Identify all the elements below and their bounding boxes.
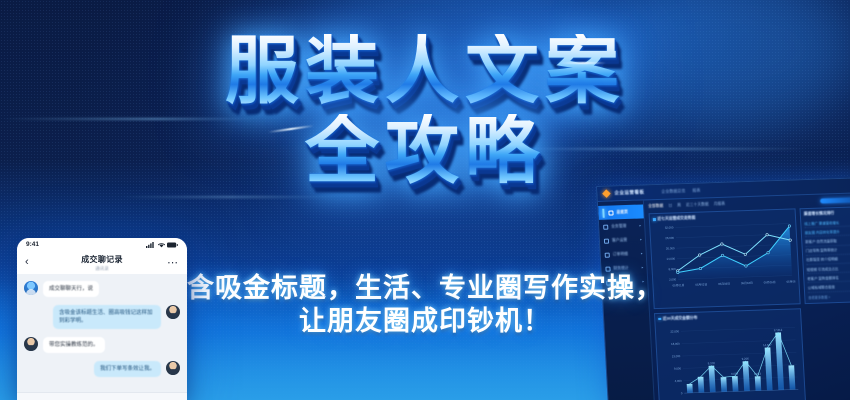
chat-message: 成交聊聊天行，说: [24, 281, 180, 297]
sidebar-item-label: 订单明细: [613, 251, 628, 256]
svg-text:18,000: 18,000: [671, 341, 680, 345]
line-chart-title: 近七天运营成交走势图: [657, 216, 695, 222]
chat-bubble: 我们下单写条效让我。: [94, 361, 161, 377]
chat-bubble: 成交聊聊天行，说: [43, 281, 99, 297]
chat-subtitle: 通讯录: [17, 266, 187, 272]
phone-mockup: 9:41 ‹ 成交聊记录 通讯录 ⋯ 成交聊聊天行，说 含吸金该标题生活、圈高吸: [17, 238, 187, 400]
sidebar-item-label: 总览页: [616, 209, 628, 214]
briefcase-icon: [603, 224, 608, 229]
wifi-icon: [158, 242, 165, 248]
top-nav-item-1[interactable]: 报表: [692, 188, 700, 194]
avatar: [24, 337, 38, 351]
svg-text:13,000: 13,000: [672, 354, 681, 358]
logo-diamond-icon: [602, 189, 610, 197]
ranking-panel-header: 渠道增长情况排行: [804, 211, 850, 218]
phone-nav-bar: ‹ 成交聊记录 通讯录 ⋯: [17, 251, 187, 274]
tab-week[interactable]: 周: [677, 203, 681, 208]
chat-message: 含吸金该标题生活、圈高吸钱记这样加到彩学明。: [24, 305, 180, 329]
status-icons: [146, 242, 178, 248]
light-streak-mid: [120, 196, 340, 198]
bullet-icon: [653, 218, 656, 221]
chevron-right-icon: ▸: [641, 251, 643, 255]
user-icon: [604, 238, 609, 243]
tab-month[interactable]: 月报表: [714, 202, 726, 207]
svg-text:14,517: 14,517: [763, 342, 772, 346]
svg-text:4,000: 4,000: [675, 378, 683, 382]
avatar: [166, 305, 180, 319]
avatar: [24, 281, 38, 295]
svg-text:8,000: 8,000: [668, 267, 676, 271]
sidebar-item-overview[interactable]: 总览页: [598, 204, 644, 219]
battery-icon: [167, 242, 178, 248]
sidebar-item-label: 财务统计: [613, 265, 628, 270]
chevron-right-icon: ▸: [642, 265, 644, 269]
grid-icon: [608, 210, 613, 215]
sidebar-item-label: 客户运营: [612, 237, 627, 242]
tab-all-data[interactable]: 全部数据: [648, 204, 663, 209]
tab-day[interactable]: 日: [668, 203, 672, 208]
chat-bubble: 带您实操教练范的。: [43, 337, 105, 353]
svg-text:9,000: 9,000: [674, 366, 682, 370]
phone-title-block: 成交聊记录 通讯录: [17, 254, 187, 272]
chat-message: 我们下单写条效让我。: [24, 361, 180, 377]
sparkle-icon: [560, 62, 606, 64]
headline-group: 服装人文案 全攻略: [0, 34, 850, 188]
top-nav-item-0[interactable]: 企业数据总览: [661, 188, 685, 195]
headline-line-1: 服装人文案: [0, 34, 850, 108]
svg-text:14,000: 14,000: [666, 257, 675, 261]
chat-message-list[interactable]: 成交聊聊天行，说 含吸金该标题生活、圈高吸钱记这样加到彩学明。 带您实操教练范的…: [17, 274, 187, 400]
chart-icon: [605, 266, 610, 271]
chat-bubble: 含吸金该标题生活、圈高吸钱记这样加到彩学明。: [53, 305, 161, 329]
dashboard-brand: 企业运营看板: [614, 189, 644, 196]
tab-thirty-days[interactable]: 近三十天数据: [686, 202, 709, 208]
status-time: 9:41: [26, 241, 39, 248]
svg-text:26,000: 26,000: [665, 236, 674, 240]
ranking-panel-title: 渠道增长情况排行: [804, 211, 835, 217]
svg-text:9,206: 9,206: [742, 356, 750, 360]
chat-message: 带您实操教练范的。: [24, 337, 180, 353]
sidebar-item-label: 业务管理: [611, 224, 626, 229]
sidebar-item-business[interactable]: 业务管理 ▸: [599, 218, 645, 233]
avatar: [166, 361, 180, 375]
chat-input-bar[interactable]: [17, 392, 187, 400]
sidebar-item-customers[interactable]: 客户运营 ▸: [600, 232, 646, 247]
date-range-pill[interactable]: [820, 197, 850, 203]
svg-text:9,378: 9,378: [708, 361, 716, 365]
sidebar-item-orders[interactable]: 订单明细 ▸: [600, 246, 646, 261]
list-icon: [605, 252, 610, 257]
svg-text:20,000: 20,000: [666, 246, 675, 250]
phone-status-bar: 9:41: [17, 238, 187, 251]
dashboard-top-nav[interactable]: 企业数据总览 报表: [661, 188, 700, 195]
chat-title: 成交聊记录: [17, 254, 187, 265]
chevron-right-icon: ▸: [639, 224, 641, 228]
promo-banner: 服装人文案 全攻略 含吸金标题，生活、专业圈写作实操， 让朋友圈成印钞机！ 9:…: [0, 0, 850, 400]
headline-line-2: 全攻略: [0, 114, 850, 188]
chevron-right-icon: ▸: [640, 237, 642, 241]
svg-text:0: 0: [681, 391, 683, 395]
svg-text:32,000: 32,000: [665, 225, 674, 229]
signal-icon: [146, 242, 155, 248]
